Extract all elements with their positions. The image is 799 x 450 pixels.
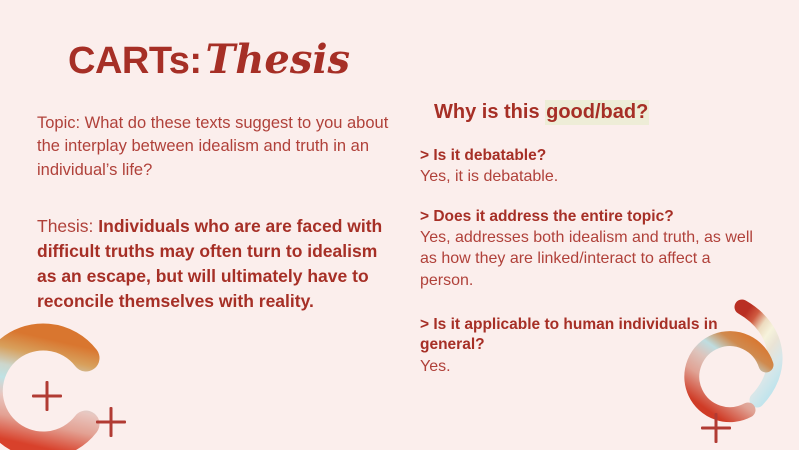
heading-highlighted-text: good/bad? (545, 100, 649, 125)
qa-answer: Yes, addresses both idealism and truth, … (420, 227, 765, 291)
qa-answer: Yes, it is debatable. (420, 166, 765, 187)
qa-question: > Is it applicable to human individuals … (420, 315, 765, 356)
plus-mark-icon (701, 413, 731, 443)
thesis-label: Thesis: (37, 216, 98, 236)
plus-mark-icon (96, 407, 126, 437)
qa-item: > Is it applicable to human individuals … (420, 315, 765, 377)
plus-mark-icon (32, 381, 62, 411)
slide-canvas: CARTs:Thesis Topic: What do these texts … (0, 0, 799, 450)
slide-title: CARTs:Thesis (68, 40, 350, 80)
slide-title-main: CARTs: (68, 40, 202, 82)
qa-list: > Is it debatable? Yes, it is debatable.… (420, 146, 765, 377)
right-column-heading: Why is this good/bad? (434, 100, 765, 124)
right-column: Why is this good/bad? > Is it debatable?… (420, 100, 765, 396)
crescent-arc-left (0, 337, 86, 445)
heading-plain-text: Why is this (434, 101, 545, 123)
qa-item: > Is it debatable? Yes, it is debatable. (420, 146, 765, 188)
qa-item: > Does it address the entire topic? Yes,… (420, 207, 765, 291)
left-column: Topic: What do these texts suggest to yo… (37, 112, 392, 314)
slide-title-script: Thesis (206, 36, 351, 83)
qa-answer: Yes. (420, 356, 765, 377)
thesis-paragraph: Thesis: Individuals who are are faced wi… (37, 182, 392, 313)
qa-question: > Does it address the entire topic? (420, 207, 765, 227)
topic-paragraph: Topic: What do these texts suggest to yo… (37, 112, 392, 182)
qa-question: > Is it debatable? (420, 146, 765, 166)
